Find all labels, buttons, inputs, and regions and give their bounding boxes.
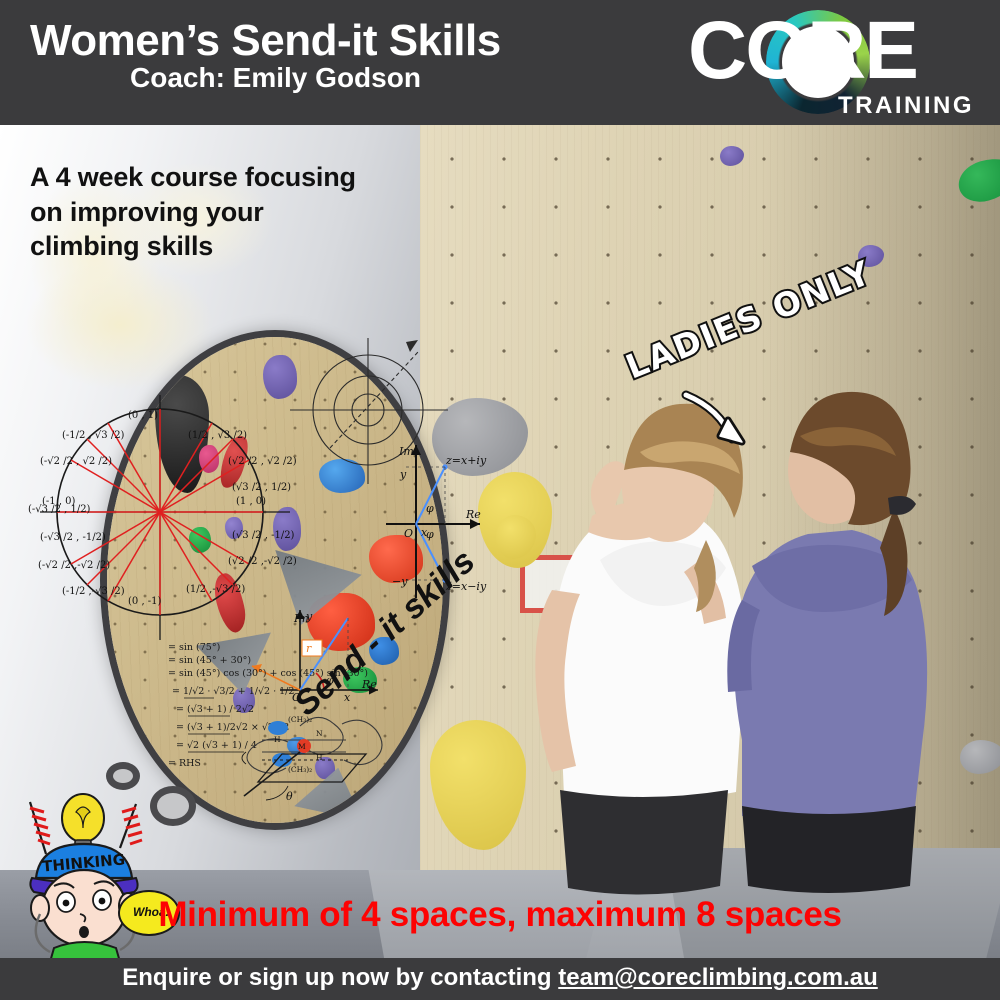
wall-sign bbox=[520, 555, 596, 613]
contact-email-link[interactable]: team@coreclimbing.com.au bbox=[558, 964, 878, 991]
blurb-line-2: on improving your bbox=[30, 195, 460, 230]
oval-hold-green bbox=[189, 527, 211, 553]
oval-hold-purple bbox=[225, 517, 243, 539]
oval-hold-blue bbox=[319, 459, 365, 493]
footer-prefix: Enquire or sign up now by contacting bbox=[122, 964, 558, 991]
logo-o-counter bbox=[782, 26, 854, 98]
thought-bubble-small bbox=[106, 762, 140, 790]
climbing-hold-grey bbox=[960, 740, 1000, 774]
logo-subtitle: TRAINING bbox=[838, 92, 974, 120]
footer-text: Enquire or sign up now by contacting tea… bbox=[0, 964, 1000, 992]
coach-name: Coach: Emily Godson bbox=[130, 62, 421, 94]
oval-hold-red bbox=[369, 535, 423, 583]
core-training-logo: CORE TRAINING bbox=[688, 8, 978, 120]
header-bar: Women’s Send-it Skills Coach: Emily Gods… bbox=[0, 0, 1000, 125]
blurb-line-3: climbing skills bbox=[30, 229, 460, 264]
spaces-note: Minimum of 4 spaces, maximum 8 spaces bbox=[0, 895, 1000, 935]
oval-hold-purple bbox=[263, 355, 297, 399]
poster-root: (0 , 1) (-1/2 , √3 /2) (-√2 /2 , √2 /2) … bbox=[0, 0, 1000, 1000]
math-collage-oval bbox=[100, 330, 450, 830]
oval-hold-purple bbox=[273, 507, 301, 551]
footer-bar: Enquire or sign up now by contacting tea… bbox=[0, 958, 1000, 1000]
oval-hold-pink bbox=[199, 445, 219, 473]
oval-hold-blue bbox=[287, 737, 309, 755]
blurb-line-1: A 4 week course focusing bbox=[30, 160, 460, 195]
page-title: Women’s Send-it Skills bbox=[30, 16, 501, 66]
course-description: A 4 week course focusing on improving yo… bbox=[30, 160, 460, 264]
wall-shadow bbox=[760, 125, 1000, 885]
